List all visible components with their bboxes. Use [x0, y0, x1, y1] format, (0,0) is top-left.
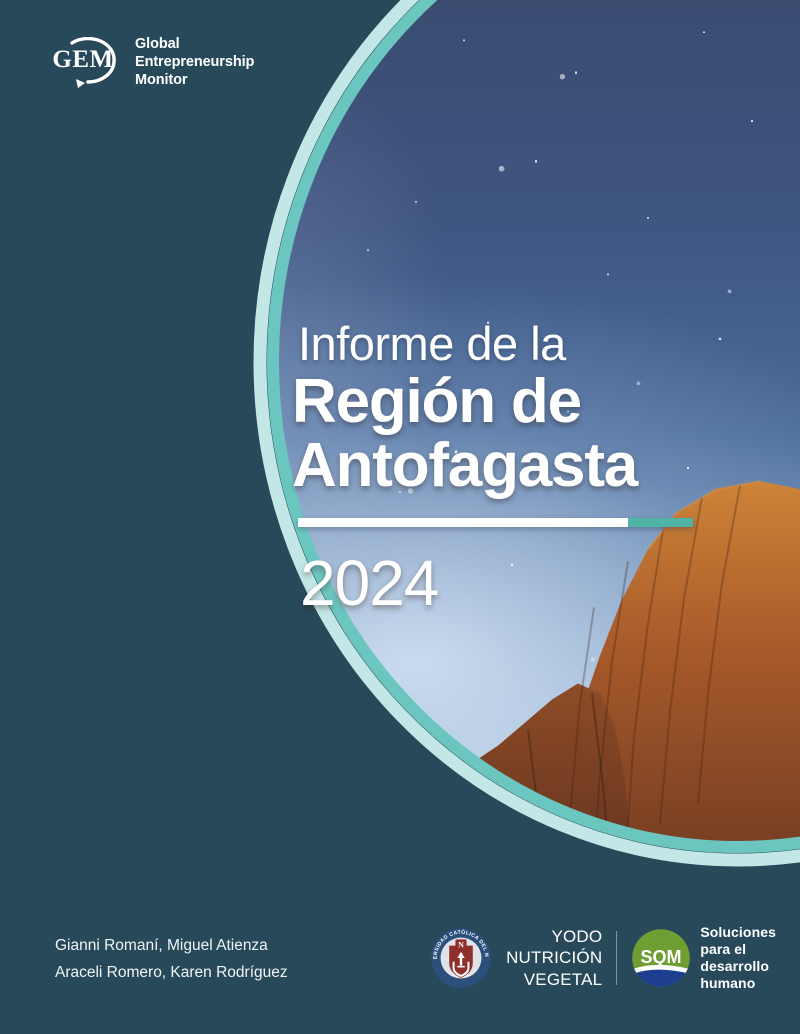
sqm-logo: SQM Soluciones para el desarrollo humano [631, 924, 776, 992]
cover-title-block: Informe de la Región de Antofagasta 2024 [292, 320, 712, 615]
page-title-main-line-1: Región de [292, 371, 712, 433]
university-crest-icon: UNIVERSIDAD CATÓLICA DEL NORTE CHILE N [430, 927, 492, 989]
publication-year: 2024 [300, 551, 712, 615]
logo-divider [616, 931, 617, 985]
gem-name-line-1: Global [135, 36, 254, 54]
report-cover: GEM Global Entrepreneurship Monitor Info… [0, 0, 800, 1034]
gem-name-line-3: Monitor [135, 72, 254, 90]
gem-acronym: GEM [52, 47, 114, 72]
gem-wordmark: Global Entrepreneurship Monitor [135, 36, 254, 90]
page-title-main-line-2: Antofagasta [292, 435, 712, 497]
gem-logo: GEM Global Entrepreneurship Monitor [52, 36, 254, 90]
sqm-acronym: SQM [641, 947, 682, 967]
svg-text:N: N [458, 940, 464, 949]
author-list: Gianni Romaní, Miguel Atienza Araceli Ro… [55, 932, 288, 986]
author-line-1: Gianni Romaní, Miguel Atienza [55, 932, 288, 959]
divider-white-segment [298, 518, 628, 527]
sponsor-logos: UNIVERSIDAD CATÓLICA DEL NORTE CHILE N Y… [430, 924, 776, 992]
author-line-2: Araceli Romero, Karen Rodríguez [55, 959, 288, 986]
divider-teal-segment [628, 518, 693, 527]
sqm-tagline-line-4: humano [700, 975, 776, 992]
sqm-tagline-line-3: desarrollo [700, 958, 776, 975]
yodo-line-3: VEGETAL [506, 969, 602, 990]
sqm-tagline-line-2: para el [700, 941, 776, 958]
sqm-globe-icon: SQM [631, 928, 691, 988]
sqm-tagline-line-1: Soluciones [700, 924, 776, 941]
sqm-tagline: Soluciones para el desarrollo humano [700, 924, 776, 992]
yodo-line-1: YODO [506, 926, 602, 947]
page-title-prefix: Informe de la [298, 320, 712, 369]
title-divider [298, 518, 693, 527]
yodo-line-2: NUTRICIÓN [506, 947, 602, 968]
gem-name-line-2: Entrepreneurship [135, 54, 254, 72]
gem-mark: GEM [52, 37, 126, 89]
yodo-nutricion-vegetal-label: YODO NUTRICIÓN VEGETAL [506, 926, 602, 990]
